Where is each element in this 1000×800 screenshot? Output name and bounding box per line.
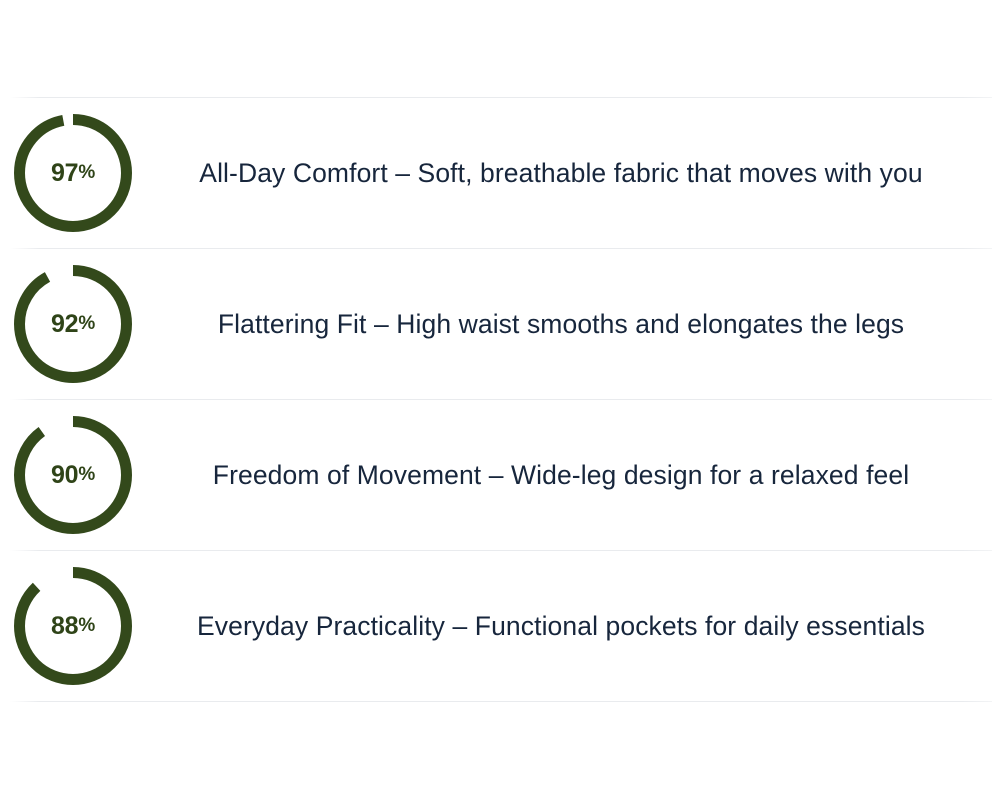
feature-description: Flattering Fit – High waist smooths and … — [146, 306, 984, 342]
gauge-percent-label: 92% — [11, 262, 135, 386]
gauge-percent-number: 90 — [51, 461, 78, 490]
donut-gauge: 97% — [11, 111, 135, 235]
feature-row: 90% Freedom of Movement – Wide-leg desig… — [0, 400, 1000, 550]
feature-highlights-panel: 97% All-Day Comfort – Soft, breathable f… — [0, 0, 1000, 800]
feature-rows: 97% All-Day Comfort – Soft, breathable f… — [0, 97, 1000, 702]
feature-description: All-Day Comfort – Soft, breathable fabri… — [146, 155, 984, 191]
gauge-percent-sign: % — [78, 464, 95, 486]
feature-row: 92% Flattering Fit – High waist smooths … — [0, 249, 1000, 399]
gauge-cell: 88% — [0, 551, 146, 701]
gauge-percent-label: 90% — [11, 413, 135, 537]
gauge-percent-label: 88% — [11, 564, 135, 688]
gauge-percent-number: 92 — [51, 310, 78, 339]
gauge-percent-label: 97% — [11, 111, 135, 235]
row-divider-bottom — [10, 701, 992, 702]
gauge-cell: 92% — [0, 249, 146, 399]
feature-row: 97% All-Day Comfort – Soft, breathable f… — [0, 98, 1000, 248]
donut-gauge: 92% — [11, 262, 135, 386]
donut-gauge: 88% — [11, 564, 135, 688]
gauge-percent-sign: % — [78, 313, 95, 335]
feature-description: Everyday Practicality – Functional pocke… — [146, 608, 984, 644]
gauge-percent-number: 97 — [51, 159, 78, 188]
gauge-percent-sign: % — [78, 615, 95, 637]
gauge-percent-number: 88 — [51, 612, 78, 641]
feature-row: 88% Everyday Practicality – Functional p… — [0, 551, 1000, 701]
donut-gauge: 90% — [11, 413, 135, 537]
gauge-cell: 90% — [0, 400, 146, 550]
gauge-cell: 97% — [0, 98, 146, 248]
feature-description: Freedom of Movement – Wide-leg design fo… — [146, 457, 984, 493]
gauge-percent-sign: % — [78, 162, 95, 184]
